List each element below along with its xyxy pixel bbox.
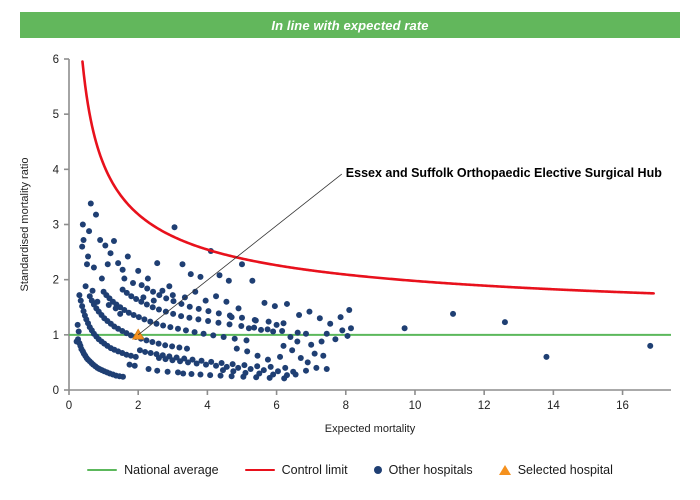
- hospital-point: [346, 307, 352, 313]
- y-tick-label: 2: [53, 275, 59, 287]
- hospital-point: [93, 212, 99, 218]
- hospital-point: [120, 374, 126, 380]
- hospital-point: [162, 342, 168, 348]
- hospital-point: [183, 327, 189, 333]
- x-tick-label: 10: [409, 400, 422, 412]
- hospital-point: [543, 354, 549, 360]
- hospital-point: [80, 222, 86, 228]
- x-tick-label: 12: [478, 400, 491, 412]
- hospital-point: [154, 368, 160, 374]
- hospital-point: [108, 250, 114, 256]
- legend-label: Other hospitals: [389, 463, 473, 477]
- funnel-plot-figure: In line with expected rate 0246810121416…: [0, 0, 700, 500]
- legend-line-swatch: [245, 469, 275, 472]
- hospital-point: [227, 321, 233, 327]
- hospital-point: [317, 315, 323, 321]
- hospital-point: [163, 356, 169, 362]
- hospital-point: [166, 283, 172, 289]
- hospital-point: [201, 331, 207, 337]
- hospital-point: [90, 288, 96, 294]
- hospital-point: [319, 338, 325, 344]
- hospital-point: [293, 372, 299, 378]
- hospital-point: [339, 327, 345, 333]
- hospital-point: [253, 317, 259, 323]
- x-tick-label: 14: [547, 400, 560, 412]
- hospital-point: [306, 309, 312, 315]
- legend-label: Selected hospital: [518, 463, 613, 477]
- hospital-point: [261, 300, 267, 306]
- hospital-point: [272, 303, 278, 309]
- hospital-point: [136, 314, 142, 320]
- hospital-point: [305, 359, 311, 365]
- hospital-point: [144, 301, 150, 307]
- hospital-point: [86, 228, 92, 234]
- hospital-point: [308, 342, 314, 348]
- hospital-point: [277, 354, 283, 360]
- hospital-point: [219, 360, 225, 366]
- hospital-point: [195, 316, 201, 322]
- hospital-point: [248, 366, 254, 372]
- hospital-point: [144, 285, 150, 291]
- hospital-point: [106, 302, 112, 308]
- hospital-point: [192, 329, 198, 335]
- x-tick-label: 6: [273, 400, 279, 412]
- hospital-point: [186, 315, 192, 321]
- y-tick-label: 3: [53, 220, 59, 232]
- hospital-point: [105, 261, 111, 267]
- legend-line-swatch: [87, 469, 117, 472]
- hospital-point: [281, 343, 287, 349]
- hospital-point: [265, 326, 271, 332]
- x-axis-title: Expected mortality: [325, 423, 416, 435]
- hospital-point: [255, 353, 261, 359]
- hospital-point: [221, 334, 227, 340]
- x-tick-label: 16: [616, 400, 629, 412]
- hospital-point: [111, 238, 117, 244]
- x-tick-label: 4: [204, 400, 211, 412]
- hospital-point: [274, 322, 280, 328]
- hospital-point: [215, 320, 221, 326]
- hospital-point: [148, 350, 154, 356]
- hospital-point: [146, 366, 152, 372]
- hospital-point: [84, 261, 90, 267]
- hospital-point: [226, 278, 232, 284]
- hospital-point: [320, 353, 326, 359]
- hospital-point: [348, 325, 354, 331]
- hospital-point: [102, 242, 108, 248]
- y-tick-label: 0: [53, 385, 59, 397]
- hospital-point: [125, 254, 131, 260]
- hospital-point: [284, 301, 290, 307]
- hospital-point: [131, 312, 137, 318]
- hospital-point: [203, 362, 209, 368]
- hospital-point: [78, 298, 84, 304]
- hospital-point: [345, 333, 351, 339]
- hospital-point: [287, 334, 293, 340]
- y-tick-label: 6: [53, 54, 59, 66]
- hospital-point: [258, 327, 264, 333]
- hospital-point: [142, 349, 148, 355]
- hospital-point: [79, 244, 85, 250]
- hospital-point: [338, 314, 344, 320]
- hospital-point: [99, 276, 105, 282]
- hospital-point: [165, 369, 171, 375]
- hospital-point: [156, 306, 162, 312]
- legend-label: National average: [124, 463, 219, 477]
- hospital-point: [169, 357, 175, 363]
- y-axis-title: Standardised mortality ratio: [19, 158, 31, 292]
- hospital-point: [117, 311, 123, 317]
- hospital-point: [254, 363, 260, 369]
- hospital-point: [205, 318, 211, 324]
- hospital-point: [268, 364, 274, 370]
- hospital-point: [238, 323, 244, 329]
- hospital-point: [133, 296, 139, 302]
- hospital-point: [149, 339, 155, 345]
- hospital-point: [312, 351, 318, 357]
- hospital-point: [303, 331, 309, 337]
- hospital-point: [188, 271, 194, 277]
- hospital-point: [196, 306, 202, 312]
- hospital-point: [184, 346, 190, 352]
- hospital-point: [313, 365, 319, 371]
- hospital-point: [303, 368, 309, 374]
- hospital-point: [294, 338, 300, 344]
- hospital-point: [647, 343, 653, 349]
- hospital-point: [208, 359, 214, 365]
- hospital-point: [251, 325, 257, 331]
- hospital-point: [159, 288, 165, 294]
- hospital-point: [94, 299, 100, 305]
- hospital-point: [402, 325, 408, 331]
- hospital-point: [178, 313, 184, 319]
- x-tick-label: 8: [343, 400, 349, 412]
- hospital-point: [266, 319, 272, 325]
- y-tick-label: 4: [53, 164, 60, 176]
- hospital-point: [130, 280, 136, 286]
- hospital-point: [270, 372, 276, 378]
- chart-legend: National averageControl limitOther hospi…: [0, 455, 700, 485]
- hospital-point: [175, 369, 181, 375]
- hospital-point: [324, 366, 330, 372]
- hospital-point: [296, 312, 302, 318]
- hospital-point: [229, 314, 235, 320]
- hospital-point: [150, 304, 156, 310]
- hospital-point: [180, 370, 186, 376]
- hospital-point: [205, 308, 211, 314]
- hospital-point: [223, 299, 229, 305]
- hospital-point: [218, 373, 224, 379]
- hospital-point: [75, 322, 81, 328]
- hospital-point: [127, 362, 133, 368]
- hospital-point: [234, 346, 240, 352]
- hospital-point: [213, 293, 219, 299]
- hospital-point: [256, 370, 262, 376]
- y-tick-label: 1: [53, 330, 59, 342]
- hospital-point: [243, 337, 249, 343]
- hospital-point: [120, 267, 126, 273]
- hospital-point: [220, 367, 226, 373]
- hospital-point: [170, 292, 176, 298]
- hospital-point: [249, 278, 255, 284]
- funnel-plot-svg: 0246810121416 0123456 Essex and Suffolk …: [0, 0, 700, 500]
- hospital-point: [141, 316, 147, 322]
- hospital-point: [137, 347, 143, 353]
- hospital-point: [197, 274, 203, 280]
- legend-circle-swatch: [374, 466, 382, 474]
- hospital-point: [139, 282, 145, 288]
- hospital-point: [163, 295, 169, 301]
- x-tick-label: 2: [135, 400, 141, 412]
- hospital-point: [284, 372, 290, 378]
- hospital-point: [239, 261, 245, 267]
- hospital-point: [241, 362, 247, 368]
- hospital-point: [203, 298, 209, 304]
- hospital-point: [176, 345, 182, 351]
- hospital-point: [270, 329, 276, 335]
- hospital-point: [156, 355, 162, 361]
- hospital-point: [133, 354, 139, 360]
- hospital-point: [115, 260, 121, 266]
- hospital-point: [81, 237, 87, 243]
- legend-national-average[interactable]: National average: [87, 463, 219, 477]
- legend-other-hospitals[interactable]: Other hospitals: [374, 463, 473, 477]
- legend-selected-hospital[interactable]: Selected hospital: [499, 463, 613, 477]
- hospital-point: [145, 276, 151, 282]
- hospital-point: [244, 348, 250, 354]
- hospital-point: [170, 311, 176, 317]
- hospital-point: [298, 355, 304, 361]
- hospital-point: [188, 371, 194, 377]
- hospital-point: [242, 370, 248, 376]
- hospital-point: [83, 283, 89, 289]
- hospital-point: [154, 260, 160, 266]
- hospital-point: [246, 325, 252, 331]
- hospital-point: [121, 276, 127, 282]
- hospital-point: [144, 337, 150, 343]
- legend-triangle-swatch: [499, 465, 511, 475]
- hospital-point: [135, 268, 141, 274]
- y-tick-labels-group: 0123456: [53, 54, 60, 397]
- x-tick-labels-group: 0246810121416: [66, 400, 629, 412]
- hospital-point: [230, 368, 236, 374]
- hospital-point: [185, 359, 191, 365]
- hospital-point: [210, 332, 216, 338]
- y-tick-label: 5: [53, 109, 59, 121]
- annotation-group: Essex and Suffolk Orthopaedic Elective S…: [138, 166, 662, 335]
- hospital-point: [187, 304, 193, 310]
- legend-control-limit[interactable]: Control limit: [245, 463, 348, 477]
- x-tick-label: 0: [66, 400, 72, 412]
- hospital-point: [332, 336, 338, 342]
- annotation-label: Essex and Suffolk Orthopaedic Elective S…: [346, 166, 662, 180]
- hospital-point: [150, 289, 156, 295]
- hospital-point: [450, 311, 456, 317]
- hospital-point: [239, 315, 245, 321]
- hospital-point: [265, 357, 271, 363]
- hospital-point: [177, 358, 183, 364]
- hospital-point: [295, 330, 301, 336]
- hospital-point: [207, 372, 213, 378]
- hospital-point: [179, 261, 185, 267]
- hospital-point: [281, 320, 287, 326]
- hospital-point: [502, 319, 508, 325]
- hospital-point: [167, 324, 173, 330]
- hospital-point: [279, 328, 285, 334]
- hospital-point: [160, 322, 166, 328]
- hospital-point: [170, 298, 176, 304]
- hospital-point: [289, 347, 295, 353]
- hospital-point: [132, 363, 138, 369]
- legend-label: Control limit: [282, 463, 348, 477]
- hospital-point: [140, 294, 146, 300]
- hospital-point: [151, 298, 157, 304]
- hospital-point: [76, 329, 82, 335]
- hospital-point: [232, 336, 238, 342]
- hospital-point: [217, 272, 223, 278]
- hospital-point: [197, 372, 203, 378]
- hospital-point: [236, 305, 242, 311]
- hospital-point: [327, 321, 333, 327]
- hospital-point: [113, 305, 119, 311]
- hospital-point: [213, 363, 219, 369]
- hospital-point: [194, 361, 200, 367]
- hospital-point: [282, 365, 288, 371]
- hospital-point: [169, 343, 175, 349]
- hospital-point: [175, 326, 181, 332]
- hospital-point: [156, 341, 162, 347]
- hospital-point: [88, 201, 94, 207]
- hospital-point: [76, 292, 82, 298]
- hospital-point: [85, 254, 91, 260]
- hospital-point: [172, 224, 178, 230]
- plot-area: 0246810121416 0123456 Essex and Suffolk …: [0, 0, 700, 500]
- hospital-point: [91, 265, 97, 271]
- hospital-point: [230, 361, 236, 367]
- hospital-point: [97, 237, 103, 243]
- hospital-point: [216, 310, 222, 316]
- hospital-point: [324, 331, 330, 337]
